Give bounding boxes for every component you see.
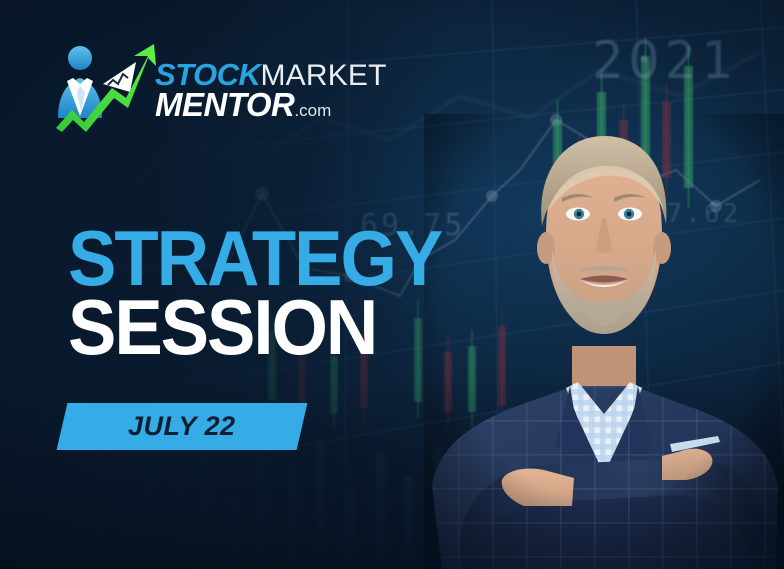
page-title: STRATEGY SESSION [68, 228, 469, 358]
date-badge-label: JULY 22 [128, 411, 236, 442]
brand-wordmark: STOCKMARKET MENTOR.com [155, 58, 345, 124]
logo-word-mentor: MENTOR [155, 86, 294, 123]
brand-logo[interactable]: STOCKMARKET MENTOR.com [50, 36, 340, 136]
date-badge[interactable]: JULY 22 [57, 403, 308, 450]
promo-banner: 2021 69.75 97.62 2020 2020 [0, 0, 784, 569]
headline-line-session: SESSION [68, 297, 441, 358]
logo-word-com: .com [294, 101, 331, 120]
headline-line-strategy: STRATEGY [68, 228, 441, 289]
businessman-growth-arrow-logo-icon [50, 38, 162, 134]
